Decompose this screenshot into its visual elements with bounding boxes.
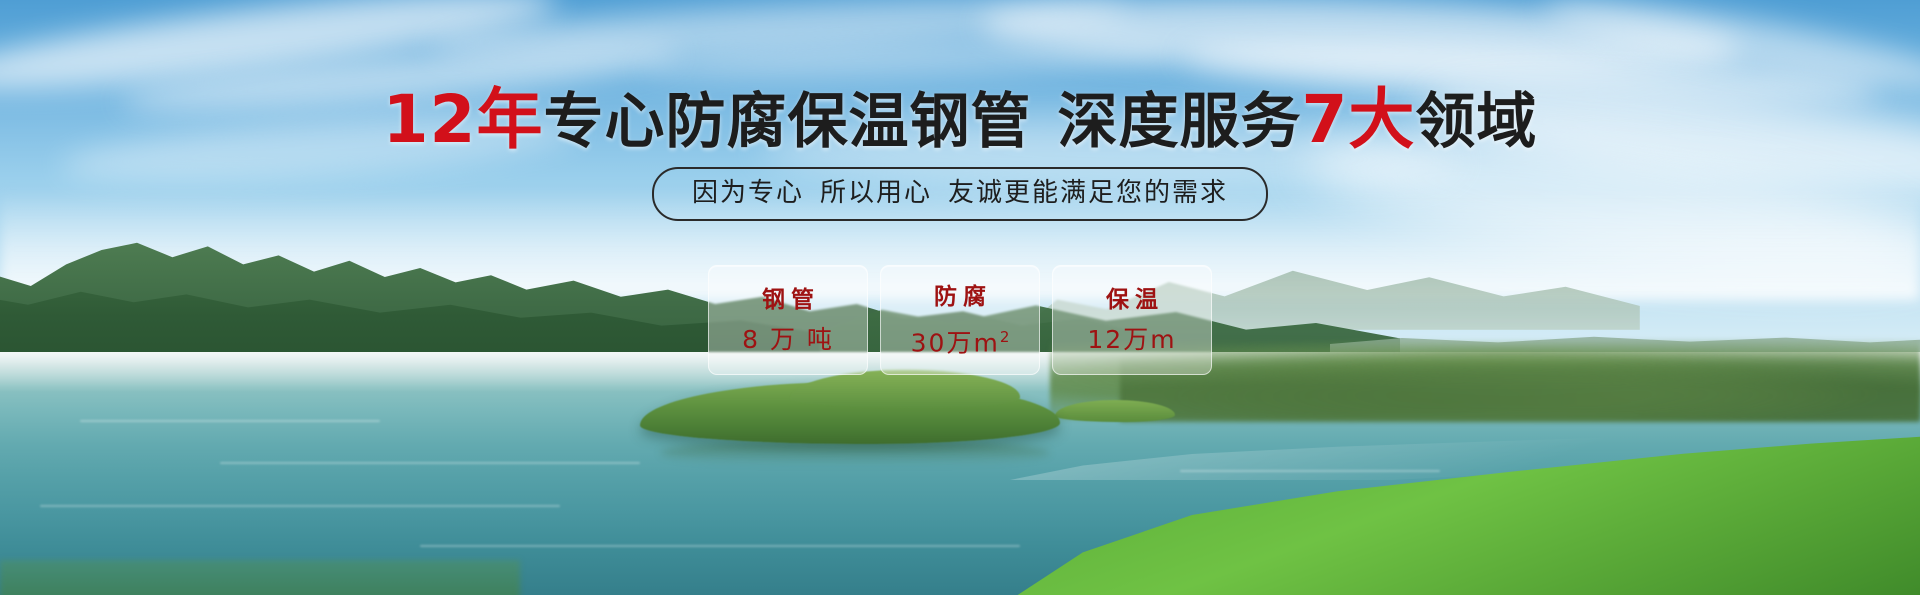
stat-value: 30万m2	[911, 323, 1010, 357]
stat-value-text: 30万m	[911, 328, 1000, 357]
stat-card-anticorrosion: 防腐 30万m2	[880, 265, 1040, 375]
banner-subtitle-wrapper: 因为专心所以用心友诚更能满足您的需求	[0, 167, 1920, 221]
headline-service: 深度服务	[1057, 87, 1301, 157]
headline-count: 7大	[1301, 81, 1415, 158]
stat-value-text: 12万m	[1087, 325, 1176, 354]
banner-subtitle-pill: 因为专心所以用心友诚更能满足您的需求	[652, 167, 1268, 221]
stat-value: 12万m	[1087, 326, 1176, 354]
stat-card-insulation: 保温 12万m	[1052, 265, 1212, 375]
stat-value-superscript: 2	[1000, 328, 1010, 346]
stat-value-text: 8 万 吨	[742, 325, 834, 354]
stat-value: 8 万 吨	[742, 326, 834, 354]
stat-label: 钢管	[756, 286, 820, 314]
banner-headline: 12年专心防腐保温钢管深度服务7大领域	[0, 85, 1920, 157]
headline-field: 领域	[1415, 87, 1537, 157]
stat-label: 保温	[1100, 286, 1164, 314]
headline-years: 12年	[383, 81, 544, 158]
subtitle-segment-1: 因为专心	[692, 178, 804, 208]
promo-banner: 12年专心防腐保温钢管深度服务7大领域 因为专心所以用心友诚更能满足您的需求 钢…	[0, 0, 1920, 595]
stat-card-group: 钢管 8 万 吨 防腐 30万m2 保温 12万m	[0, 265, 1920, 375]
headline-main: 专心防腐保温钢管	[543, 87, 1031, 157]
stat-label: 防腐	[928, 283, 992, 311]
stat-card-steel-pipe: 钢管 8 万 吨	[708, 265, 868, 375]
subtitle-segment-3: 友诚更能满足您的需求	[948, 178, 1228, 208]
subtitle-segment-2: 所以用心	[820, 178, 932, 208]
